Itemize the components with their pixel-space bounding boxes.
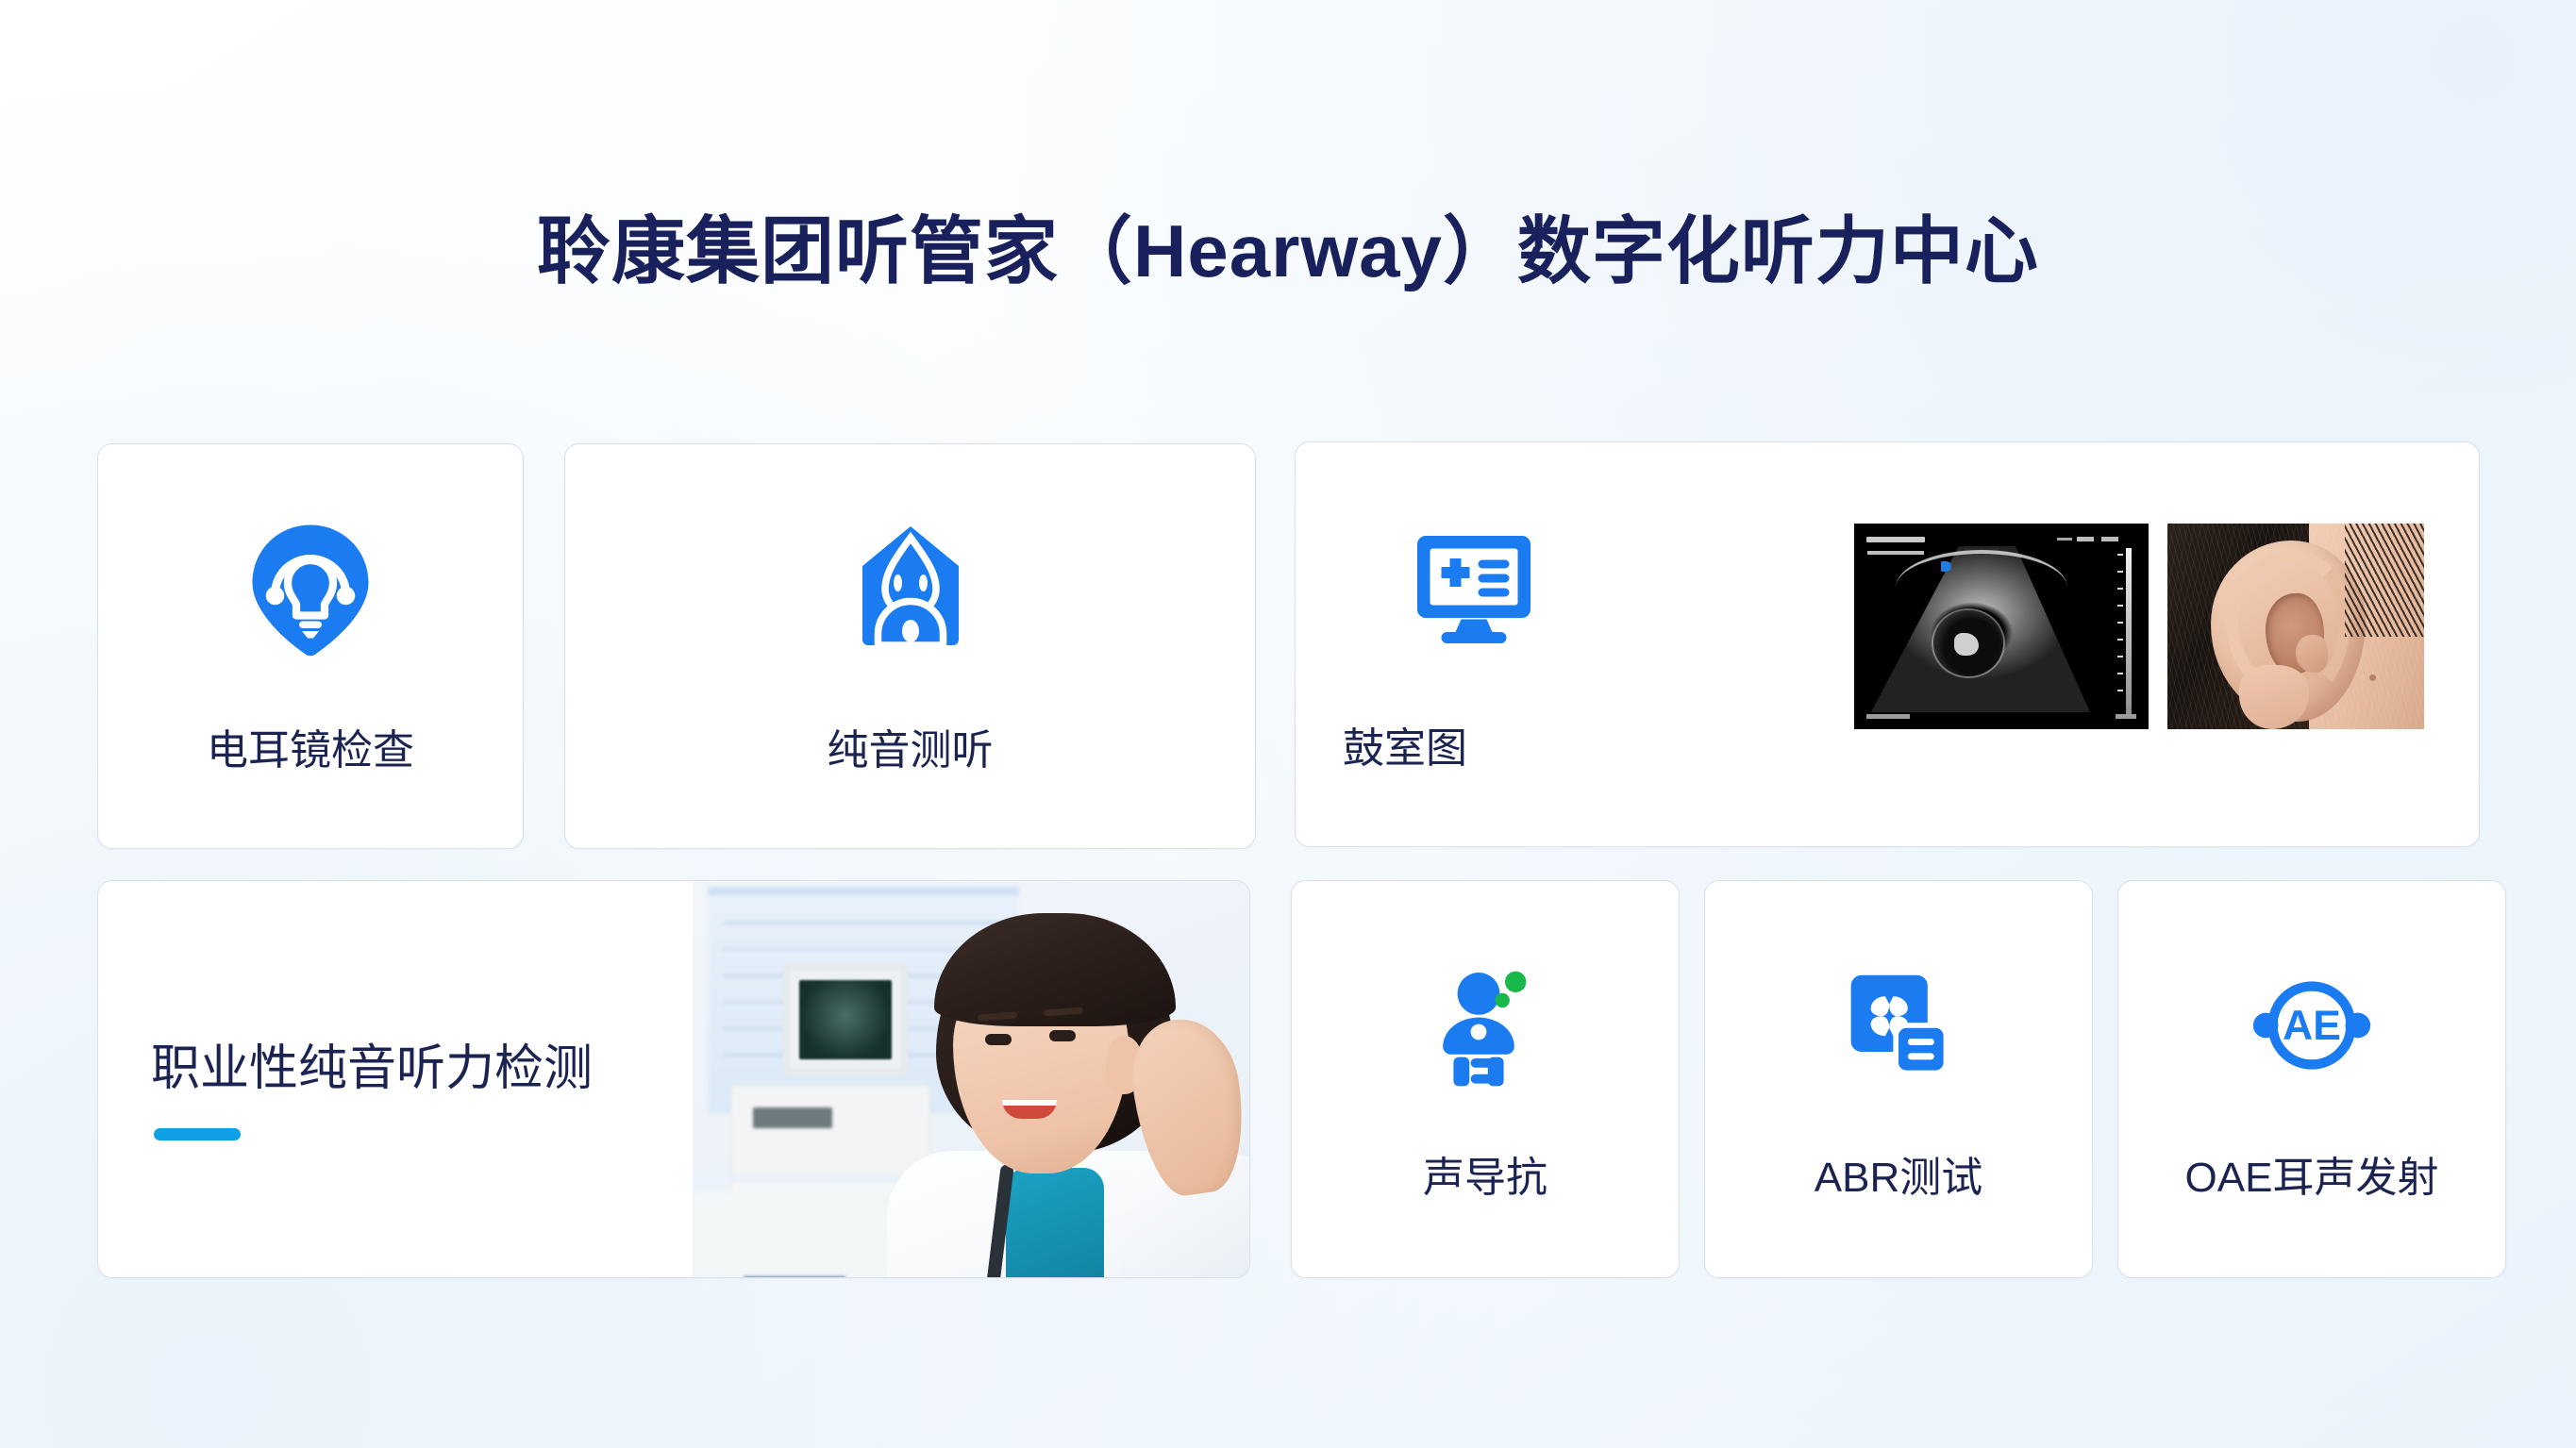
card-label: OAE耳声发射 xyxy=(2118,1143,2505,1204)
otoscope-pin-bulb-icon xyxy=(98,518,523,659)
page-title: 聆康集团听管家（Hearway）数字化听力中心 xyxy=(0,192,2576,298)
human-ear-closeup-photo xyxy=(2167,524,2424,729)
card-acoustic-immittance[interactable]: 声导抗 xyxy=(1291,880,1680,1278)
card-label: ABR测试 xyxy=(1705,1143,2092,1204)
card-pure-tone-audiometry[interactable]: 纯音测听 xyxy=(564,443,1256,849)
card-label: 电耳镜检查 xyxy=(98,716,523,776)
doctor-hand-to-ear-photo xyxy=(693,881,1249,1277)
card-label: 职业性纯音听力检测 xyxy=(151,1028,593,1099)
hearing-center-poster: 聆康集团听管家（Hearway）数字化听力中心 电耳镜检查 xyxy=(0,0,2576,1448)
card-tympanogram[interactable]: 鼓室图 xyxy=(1295,441,2480,847)
accent-bar xyxy=(154,1128,241,1140)
monitor-medical-record-icon xyxy=(1337,516,1611,657)
card-oae-otoacoustic-emission[interactable]: AE OAE耳声发射 xyxy=(2117,880,2506,1278)
ae-circle-icon: AE xyxy=(2118,955,2505,1096)
card-otoscope[interactable]: 电耳镜检查 xyxy=(97,443,524,849)
four-petal-square-icon xyxy=(1705,955,2092,1096)
svg-text:AE: AE xyxy=(2283,1003,2341,1049)
tympanogram-photo-group xyxy=(1854,524,2424,729)
card-label: 鼓室图 xyxy=(1343,714,1616,774)
pure-tone-shield-person-icon xyxy=(565,518,1255,659)
card-label: 纯音测听 xyxy=(565,716,1255,776)
person-at-desk-icon xyxy=(1292,955,1679,1096)
card-label: 声导抗 xyxy=(1292,1143,1679,1204)
ultrasound-scan-photo xyxy=(1854,524,2149,729)
card-abr-test[interactable]: ABR测试 xyxy=(1704,880,2093,1278)
